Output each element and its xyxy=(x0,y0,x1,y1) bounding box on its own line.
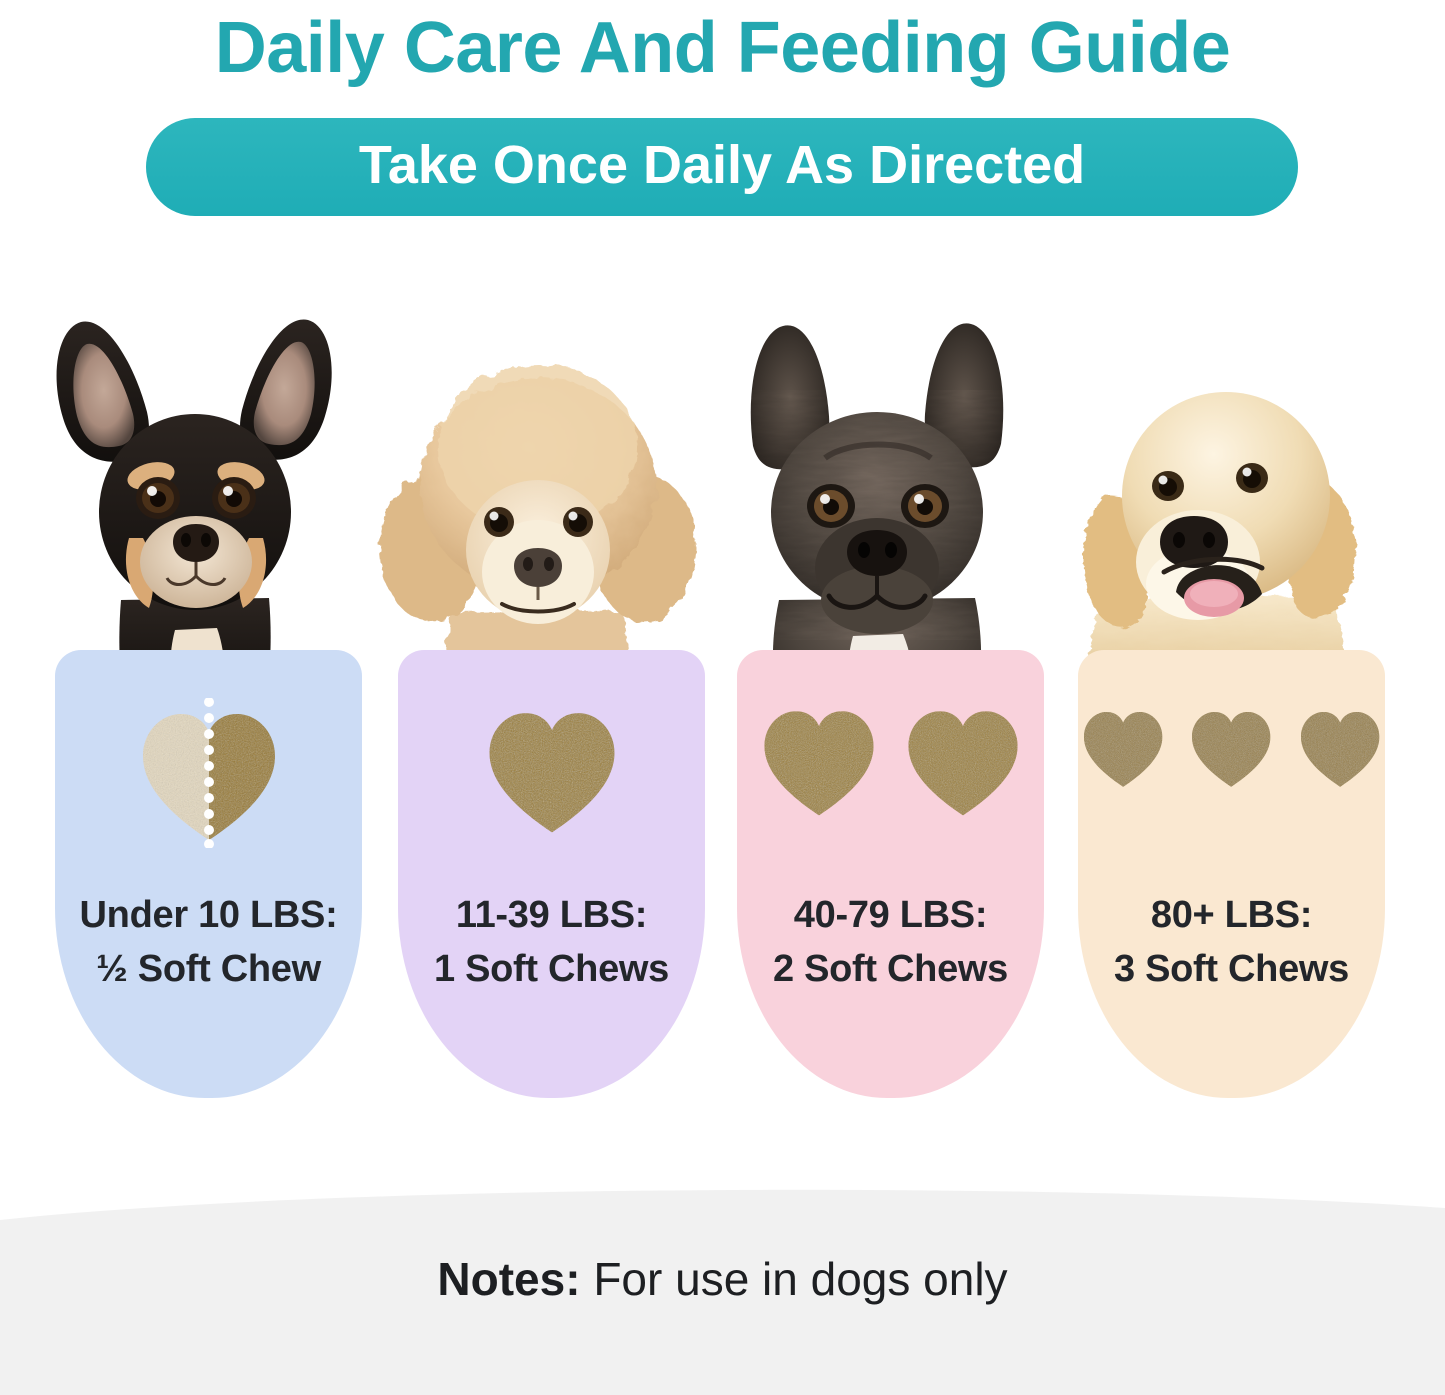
card-body-poodle: 11-39 LBS: 1 Soft Chews xyxy=(398,650,705,1098)
weight-range-label: 11-39 LBS: xyxy=(398,888,705,942)
chew-icon xyxy=(1295,698,1385,796)
golden-retriever-photo xyxy=(1048,300,1388,700)
dosing-card-french-bulldog: 40-79 LBS: 2 Soft Chews xyxy=(707,300,1047,1100)
page-title: Daily Care And Feeding Guide xyxy=(0,4,1445,92)
card-body-golden-retriever: 80+ LBS: 3 Soft Chews xyxy=(1078,650,1385,1098)
chew-icon xyxy=(479,698,625,840)
chew-group xyxy=(737,698,1044,822)
directions-banner: Take Once Daily As Directed xyxy=(146,118,1298,216)
dosing-card-poodle: 11-39 LBS: 1 Soft Chews xyxy=(368,300,708,1100)
chew-icon xyxy=(1078,698,1168,796)
weight-range-label: Under 10 LBS: xyxy=(55,888,362,942)
dose-labels: 80+ LBS: 3 Soft Chews xyxy=(1078,888,1385,996)
chihuahua-photo xyxy=(25,300,365,700)
notes-section: Notes: For use in dogs only xyxy=(0,1180,1445,1395)
dose-amount-label: ½ Soft Chew xyxy=(55,942,362,996)
feeding-guide-infographic: Daily Care And Feeding Guide Take Once D… xyxy=(0,0,1445,1395)
dose-amount-label: 3 Soft Chews xyxy=(1078,942,1385,996)
weight-range-label: 80+ LBS: xyxy=(1078,888,1385,942)
notes-label: Notes: xyxy=(437,1253,580,1305)
card-body-chihuahua: Under 10 LBS: ½ Soft Chew xyxy=(55,650,362,1098)
dose-amount-label: 1 Soft Chews xyxy=(398,942,705,996)
dose-labels: Under 10 LBS: ½ Soft Chew xyxy=(55,888,362,996)
dose-labels: 11-39 LBS: 1 Soft Chews xyxy=(398,888,705,996)
chew-group xyxy=(55,698,362,848)
french-bulldog-photo xyxy=(707,300,1047,700)
dose-labels: 40-79 LBS: 2 Soft Chews xyxy=(737,888,1044,996)
dosing-card-chihuahua: Under 10 LBS: ½ Soft Chew xyxy=(25,300,365,1100)
half-chew-icon xyxy=(133,698,285,848)
chew-icon xyxy=(900,698,1026,822)
chew-icon xyxy=(756,698,882,822)
weight-range-label: 40-79 LBS: xyxy=(737,888,1044,942)
dosing-card-row: Under 10 LBS: ½ Soft Chew xyxy=(0,300,1445,1100)
notes-body: For use in dogs only xyxy=(581,1253,1008,1305)
chew-group xyxy=(1078,698,1385,796)
dose-amount-label: 2 Soft Chews xyxy=(737,942,1044,996)
chew-group xyxy=(398,698,705,840)
chew-icon xyxy=(1186,698,1276,796)
notes-line: Notes: For use in dogs only xyxy=(0,1250,1445,1308)
directions-banner-label: Take Once Daily As Directed xyxy=(359,134,1085,196)
poodle-photo xyxy=(368,300,708,700)
dosing-card-golden-retriever: 80+ LBS: 3 Soft Chews xyxy=(1048,300,1388,1100)
card-body-french-bulldog: 40-79 LBS: 2 Soft Chews xyxy=(737,650,1044,1098)
